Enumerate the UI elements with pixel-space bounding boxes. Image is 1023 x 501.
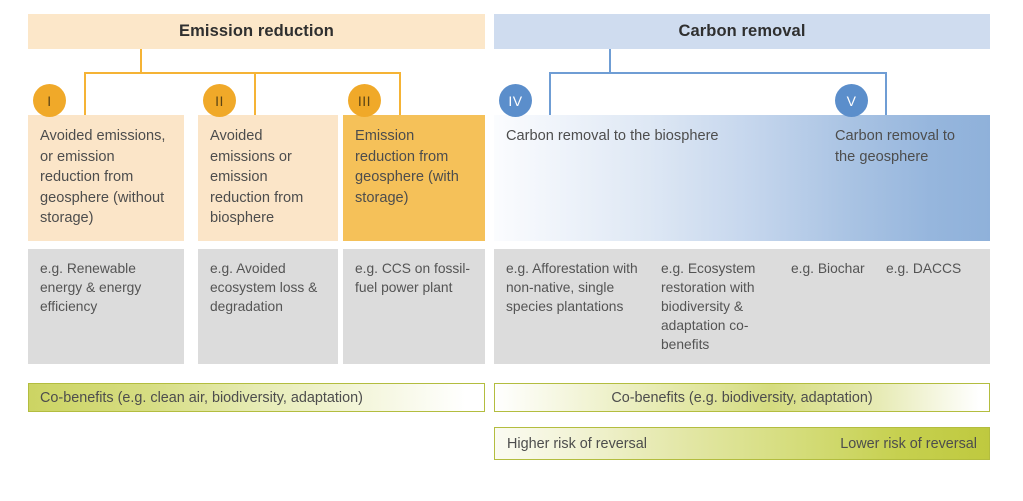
example-box-III: e.g. CCS on fossil-fuel power plant	[343, 249, 485, 364]
carbon-removal-header: Carbon removal	[494, 14, 990, 49]
badge-label-II: II	[215, 93, 224, 109]
co-benefits-label-carbon: Co-benefits (e.g. biodiversity, adaptati…	[611, 390, 872, 406]
example-col-daccs: e.g. DACCS	[886, 259, 981, 278]
badge-label-V: V	[847, 93, 857, 109]
carbon-removal-title: Carbon removal	[678, 22, 805, 41]
connector-blue-branch-2	[885, 72, 887, 117]
risk-label-higher: Higher risk of reversal	[507, 436, 647, 452]
co-benefits-bar-emission: Co-benefits (e.g. clean air, biodiversit…	[28, 383, 485, 412]
concept-box-I: Avoided emissions, or emission reduction…	[28, 115, 184, 241]
concept-text-IV-wrap: Carbon removal to the biosphere	[506, 126, 836, 147]
example-col-ecosystem: e.g. Ecosystem restoration with biodiver…	[661, 259, 779, 354]
risk-of-reversal-bar: Higher risk of reversal Lower risk of re…	[494, 427, 990, 460]
concept-box-II: Avoided emissions or emission reduction …	[198, 115, 338, 241]
badge-category-III: III	[348, 84, 381, 117]
badge-label-IV: IV	[508, 93, 522, 109]
connector-orange-branch-3	[399, 72, 401, 117]
connector-orange-crossbar	[84, 72, 401, 74]
connector-blue-crossbar	[549, 72, 887, 74]
concept-text-IV: Carbon removal to the biosphere	[506, 128, 719, 144]
badge-label-III: III	[358, 93, 371, 109]
connector-orange-trunk	[140, 49, 142, 73]
concept-box-carbon-removal: Carbon removal to the biosphere Carbon r…	[494, 115, 990, 241]
co-benefits-label-emission: Co-benefits (e.g. clean air, biodiversit…	[40, 390, 363, 406]
emission-reduction-header: Emission reduction	[28, 14, 485, 49]
connector-blue-trunk	[609, 49, 611, 73]
example-box-carbon-removal: e.g. Afforestation with non-native, sing…	[494, 249, 990, 364]
example-text-afforestation: e.g. Afforestation with non-native, sing…	[506, 261, 638, 314]
concept-text-II: Avoided emissions or emission reduction …	[210, 128, 303, 226]
example-text-III: e.g. CCS on fossil-fuel power plant	[355, 261, 470, 295]
connector-orange-branch-1	[84, 72, 86, 117]
co-benefits-bar-carbon: Co-benefits (e.g. biodiversity, adaptati…	[494, 383, 990, 412]
example-col-biochar: e.g. Biochar	[791, 259, 886, 278]
risk-label-lower: Lower risk of reversal	[840, 436, 977, 452]
badge-category-II: II	[203, 84, 236, 117]
connector-orange-branch-2	[254, 72, 256, 117]
example-text-daccs: e.g. DACCS	[886, 261, 961, 276]
example-col-afforestation: e.g. Afforestation with non-native, sing…	[506, 259, 638, 316]
concept-text-I: Avoided emissions, or emission reduction…	[40, 128, 165, 226]
emission-reduction-title: Emission reduction	[179, 22, 334, 41]
badge-label-I: I	[47, 93, 51, 109]
example-text-I: e.g. Renewable energy & energy efficienc…	[40, 261, 141, 314]
example-box-I: e.g. Renewable energy & energy efficienc…	[28, 249, 184, 364]
concept-text-V: Carbon removal to the geosphere	[835, 128, 955, 165]
concept-box-III: Emission reduction from geosphere (with …	[343, 115, 485, 241]
badge-category-IV: IV	[499, 84, 532, 117]
concept-text-V-wrap: Carbon removal to the geosphere	[835, 126, 975, 167]
connector-blue-branch-1	[549, 72, 551, 117]
example-text-II: e.g. Avoided ecosystem loss & degradatio…	[210, 261, 317, 314]
example-text-ecosystem: e.g. Ecosystem restoration with biodiver…	[661, 261, 755, 352]
badge-category-V: V	[835, 84, 868, 117]
example-box-II: e.g. Avoided ecosystem loss & degradatio…	[198, 249, 338, 364]
concept-text-III: Emission reduction from geosphere (with …	[355, 128, 459, 206]
example-text-biochar: e.g. Biochar	[791, 261, 865, 276]
badge-category-I: I	[33, 84, 66, 117]
